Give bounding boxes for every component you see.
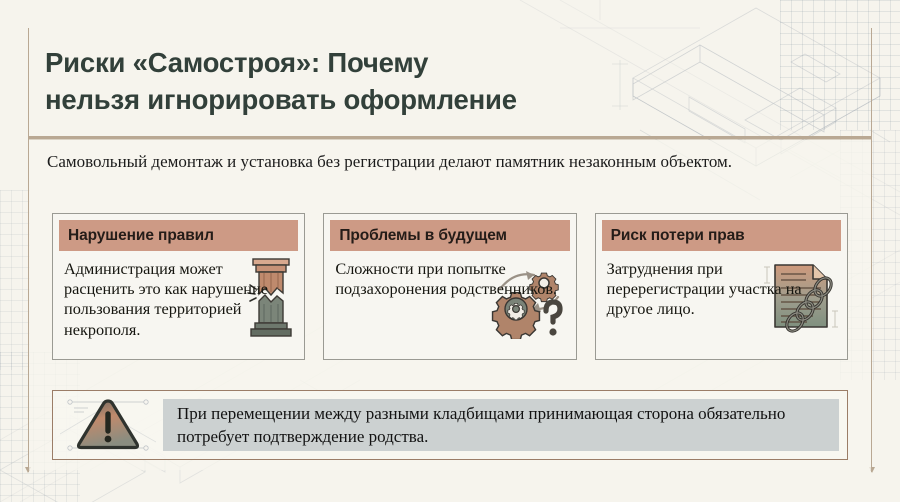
page-title: Риски «Самостроя»: Почему нельзя игнорир…	[45, 45, 605, 118]
risk-card-future[interactable]: Проблемы в будущем	[323, 213, 576, 360]
warning-icon-wrapper	[53, 391, 163, 459]
main-content-panel: Самовольный демонтаж и установка без рег…	[29, 140, 871, 470]
card-header-label: Проблемы в будущем	[339, 227, 507, 245]
warning-banner: При перемещении между разными кладбищами…	[52, 390, 848, 460]
risk-card-violation[interactable]: Нарушение правил	[52, 213, 305, 360]
banner-text: При перемещении между разными кладбищами…	[177, 402, 825, 449]
header-divider	[29, 136, 871, 139]
intro-paragraph: Самовольный демонтаж и установка без рег…	[47, 150, 841, 174]
card-body-future: Сложности при попытке подзахоронения род…	[324, 251, 575, 359]
warning-triangle-icon	[60, 396, 156, 454]
card-header-label: Нарушение правил	[68, 227, 214, 245]
card-header-rights: Риск потери прав	[602, 220, 841, 251]
header: Риски «Самостроя»: Почему нельзя игнорир…	[45, 45, 605, 118]
banner-text-box: При перемещении между разными кладбищами…	[163, 399, 839, 451]
card-body-rights: Затруднения при перерегистрации участка …	[596, 251, 847, 359]
card-header-label: Риск потери прав	[611, 227, 745, 245]
card-header-violation: Нарушение правил	[59, 220, 298, 251]
risk-card-row: Нарушение правил	[52, 213, 848, 360]
card-text-future: Сложности при попытке подзахоронения род…	[335, 259, 566, 299]
card-text-violation: Администрация может расценить это как на…	[64, 259, 295, 340]
grid-texture-left	[0, 190, 30, 370]
card-header-future: Проблемы в будущем	[330, 220, 569, 251]
risk-card-rights[interactable]: Риск потери прав	[595, 213, 848, 360]
card-body-violation: Администрация может расценить это как на…	[53, 251, 304, 359]
card-text-rights: Затруднения при перерегистрации участка …	[607, 259, 838, 320]
frame-line-right	[871, 28, 872, 472]
